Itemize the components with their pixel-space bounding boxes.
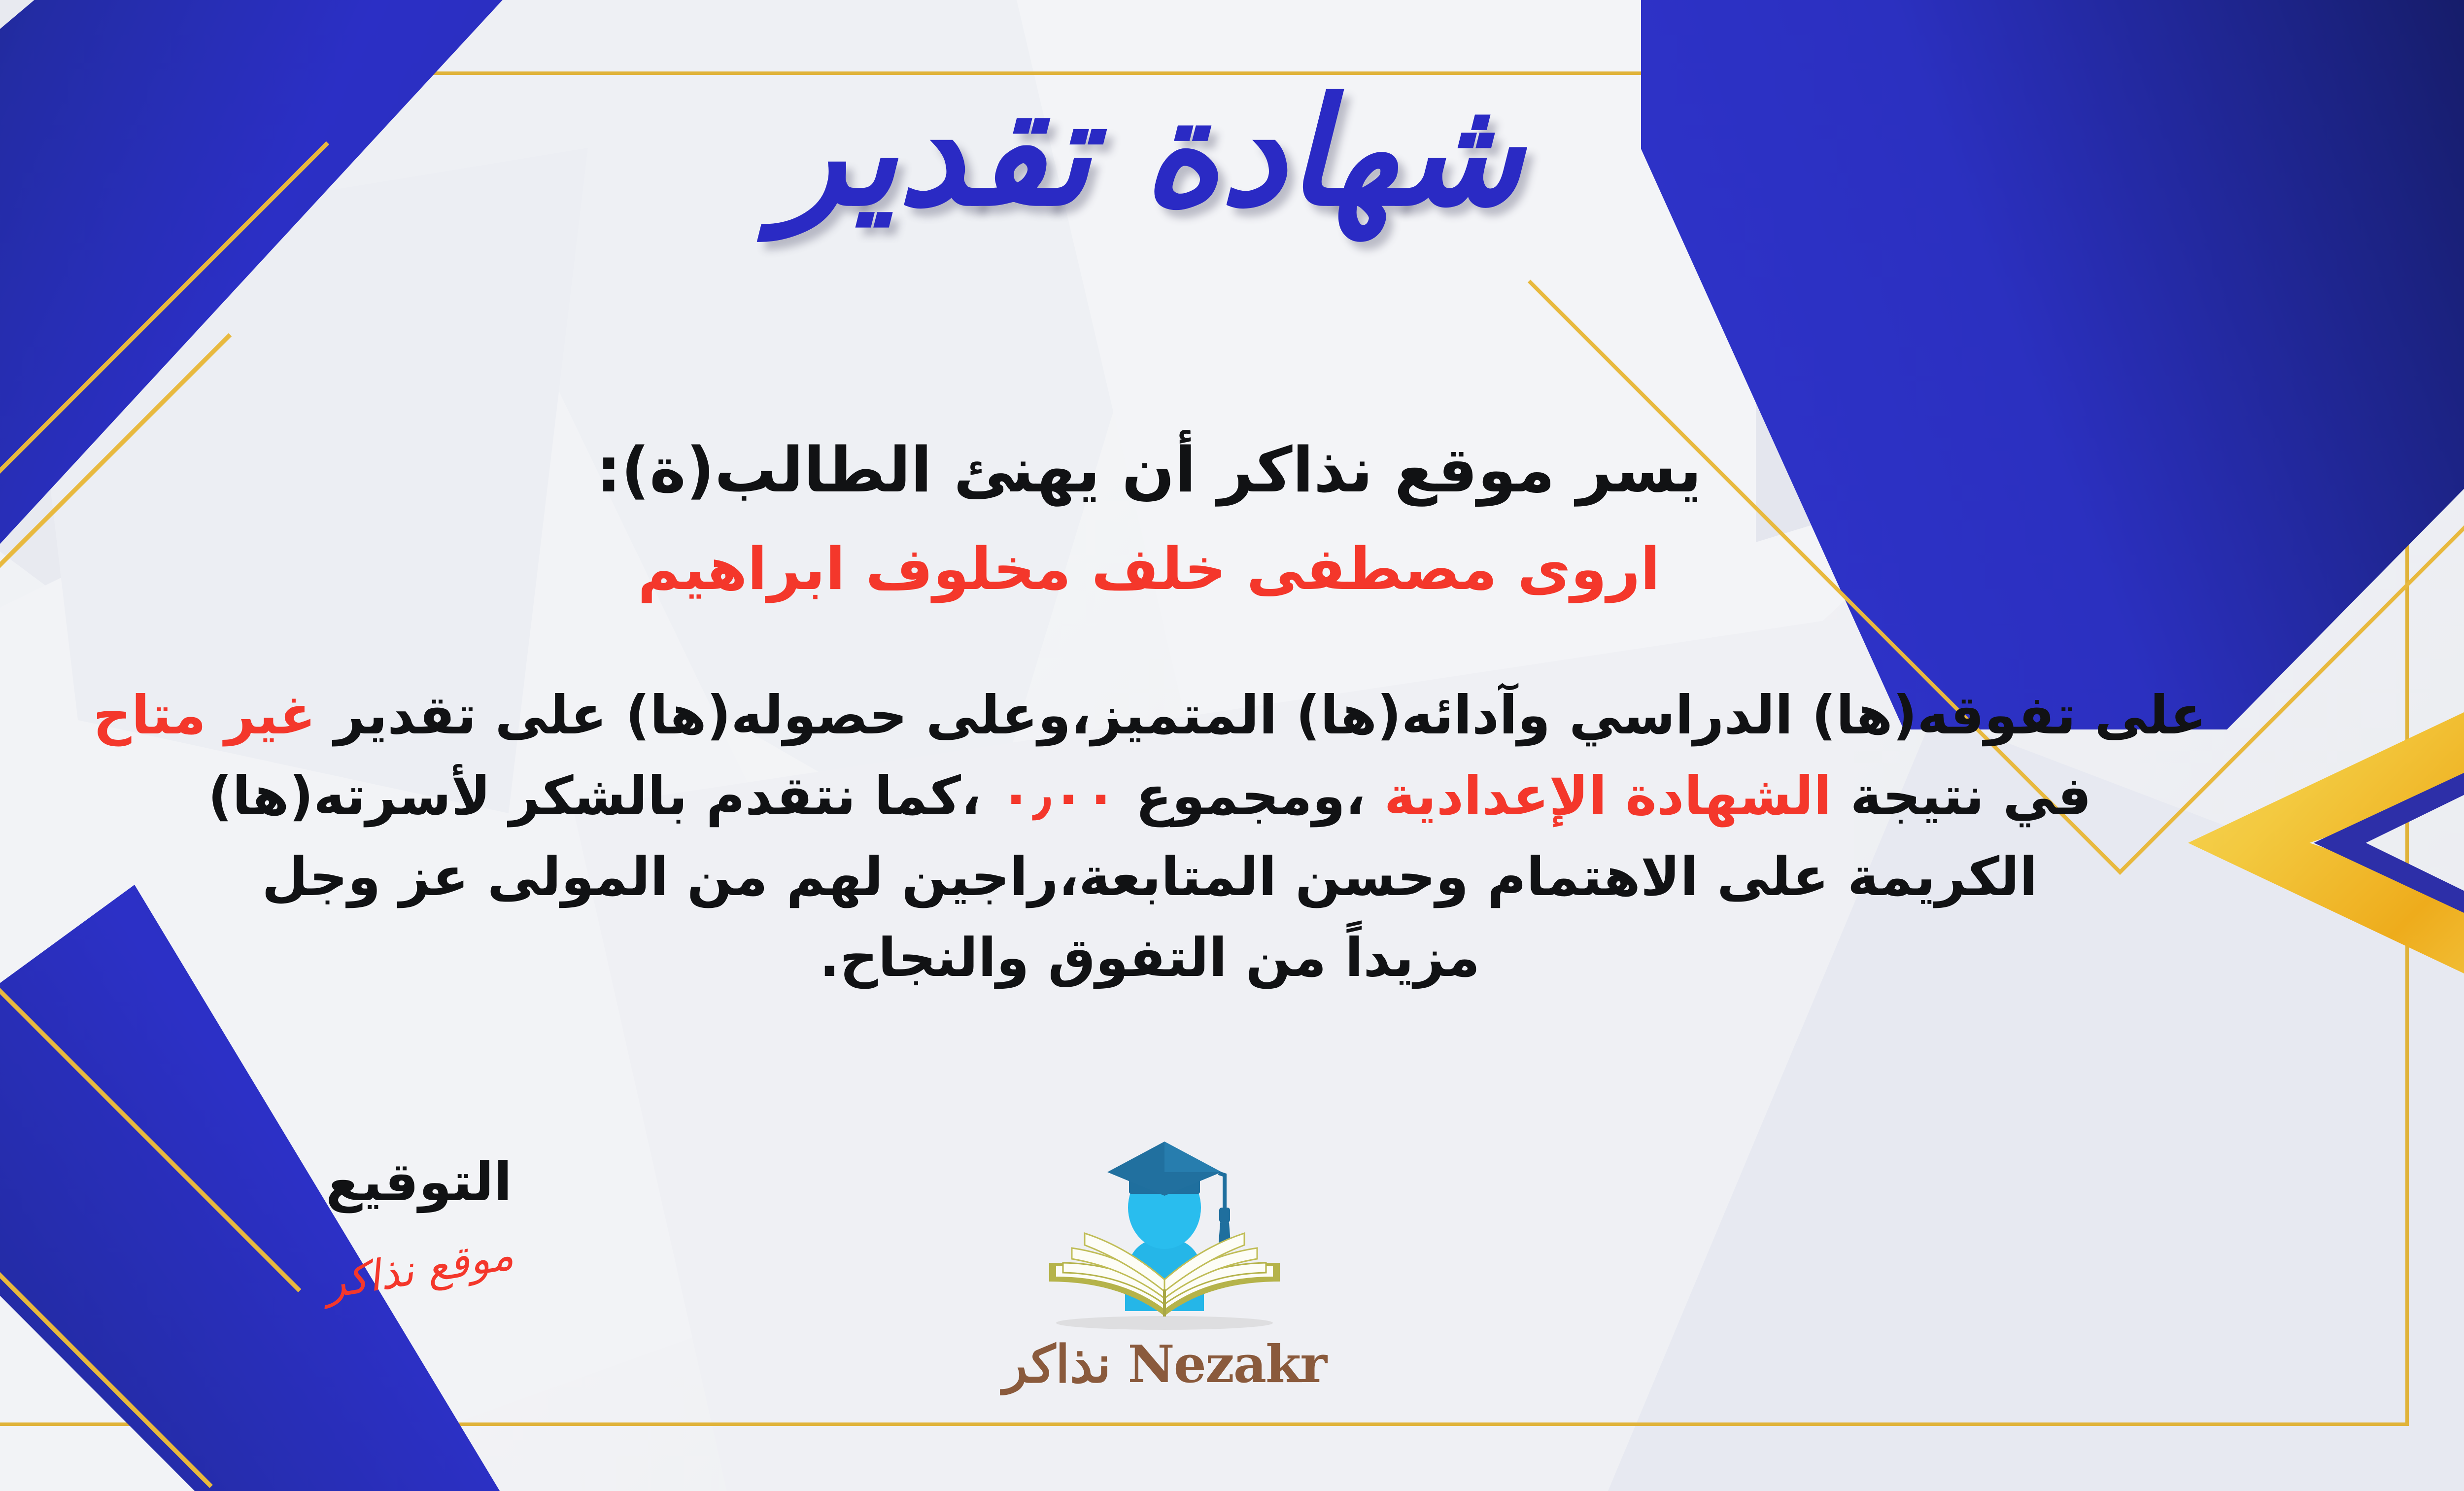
paragraph-text: الكريمة على الاهتمام وحسن المتابعة،راجين… xyxy=(262,846,2038,908)
paragraph-text: مزيداً من التفوق والنجاح. xyxy=(820,927,1480,989)
paragraph-text: على تفوقه(ها) الدراسي وآدائه(ها) المتميز… xyxy=(316,685,2206,746)
graduate-book-logo-icon xyxy=(1002,1134,1327,1331)
paragraph-line: في نتيجة الشهادة الإعدادية ،ومجموع ٠٫٠٠ … xyxy=(0,756,2392,837)
paragraph-text: ،ومجموع xyxy=(1117,765,1384,827)
signature-block: التوقيع موقع نذاكر xyxy=(197,1153,641,1294)
logo-wordmark: Nezakr نذاكر xyxy=(1002,1334,1327,1394)
site-logo-block: Nezakr نذاكر xyxy=(1002,1134,1327,1394)
paragraph-line: مزيداً من التفوق والنجاح. xyxy=(0,918,2392,999)
signature-label: التوقيع xyxy=(197,1153,641,1212)
paragraph-text: في نتيجة xyxy=(1832,765,2091,827)
paragraph-text: ،كما نتقدم بالشكر لأسرته(ها) xyxy=(208,765,1000,827)
student-name: اروى مصطفى خلف مخلوف ابراهيم xyxy=(0,535,2464,603)
certificate-page: شهادة تقدير يسر موقع نذاكر أن يهنئ الطال… xyxy=(0,0,2464,1491)
highlighted-value: غير متاح xyxy=(93,685,316,746)
paragraph-line: الكريمة على الاهتمام وحسن المتابعة،راجين… xyxy=(0,837,2392,918)
highlighted-value: ٠٫٠٠ xyxy=(1000,765,1117,827)
signature-mark: موقع نذاكر xyxy=(321,1230,517,1308)
highlighted-value: الشهادة الإعدادية xyxy=(1384,765,1832,827)
paragraph-line: على تفوقه(ها) الدراسي وآدائه(ها) المتميز… xyxy=(0,675,2392,756)
certificate-content: شهادة تقدير يسر موقع نذاكر أن يهنئ الطال… xyxy=(0,0,2464,1491)
certificate-body-paragraph: على تفوقه(ها) الدراسي وآدائه(ها) المتميز… xyxy=(0,675,2392,999)
greeting-line: يسر موقع نذاكر أن يهنئ الطالب(ة): xyxy=(0,434,2464,506)
certificate-title: شهادة تقدير xyxy=(0,74,2464,229)
